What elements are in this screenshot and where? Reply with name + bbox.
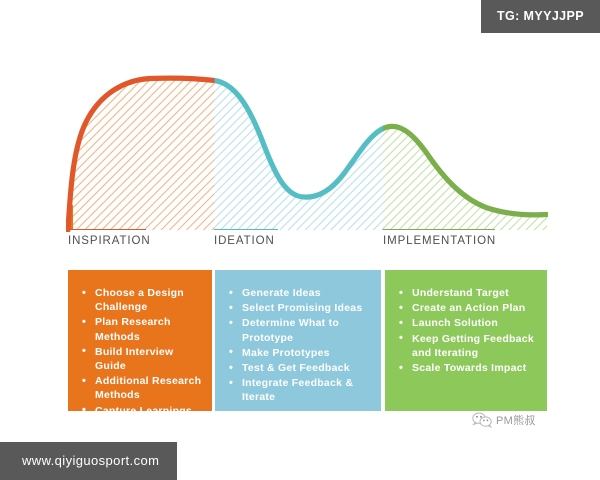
- task-list-inspiration: Choose a Design Challenge Plan Research …: [78, 286, 204, 418]
- infographic-canvas: INSPIRATION IDEATION IMPLEMENTATION Choo…: [0, 0, 600, 480]
- list-item: Generate Ideas: [225, 286, 373, 300]
- wechat-account-name: PM熊叔: [496, 412, 536, 428]
- phase-card-row: Choose a Design Challenge Plan Research …: [0, 270, 600, 411]
- phase-card-implementation: Understand Target Create an Action Plan …: [385, 270, 547, 411]
- phase-label-implementation: IMPLEMENTATION: [383, 229, 495, 247]
- list-item: Test & Get Feedback: [225, 361, 373, 375]
- list-item: Create an Action Plan: [395, 301, 539, 315]
- list-item: Choose a Design Challenge: [78, 286, 204, 314]
- telegram-watermark-badge: TG: MYYJJPP: [481, 0, 600, 33]
- list-item: Make Prototypes: [225, 346, 373, 360]
- phase-card-inspiration: Choose a Design Challenge Plan Research …: [68, 270, 212, 411]
- task-list-implementation: Understand Target Create an Action Plan …: [395, 286, 539, 375]
- wechat-watermark: PM熊叔: [472, 412, 536, 428]
- phase-card-ideation: Generate Ideas Select Promising Ideas De…: [215, 270, 381, 411]
- design-thinking-curve-chart: [0, 0, 600, 260]
- list-item: Plan Research Methods: [78, 315, 204, 343]
- task-list-ideation: Generate Ideas Select Promising Ideas De…: [225, 286, 373, 405]
- list-item: Understand Target: [395, 286, 539, 300]
- phase-label-inspiration: INSPIRATION: [68, 229, 146, 247]
- list-item: Integrate Feedback & Iterate: [225, 376, 373, 404]
- wechat-icon: [472, 412, 492, 428]
- list-item: Build Interview Guide: [78, 345, 204, 373]
- list-item: Select Promising Ideas: [225, 301, 373, 315]
- list-item: Keep Getting Feedback and Iterating: [395, 332, 539, 360]
- phase-label-ideation: IDEATION: [214, 229, 278, 247]
- list-item: Scale Towards Impact: [395, 361, 539, 375]
- list-item: Additional Research Methods: [78, 374, 204, 402]
- list-item: Capture Learnings: [78, 404, 204, 418]
- list-item: Launch Solution: [395, 316, 539, 330]
- list-item: Determine What to Prototype: [225, 316, 373, 344]
- phase-label-row: INSPIRATION IDEATION IMPLEMENTATION: [0, 229, 600, 259]
- website-watermark-badge: www.qiyiguosport.com: [0, 442, 177, 480]
